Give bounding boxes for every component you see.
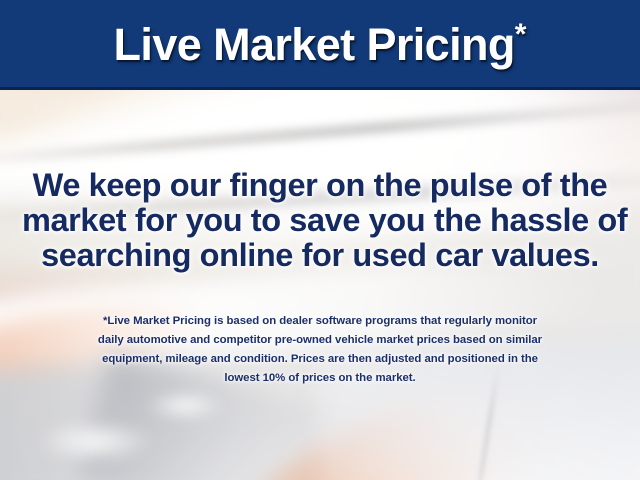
headline-line-1: We keep our finger on the pulse of the — [22, 168, 618, 203]
header-banner: Live Market Pricing* — [0, 0, 640, 90]
headline-text: We keep our finger on the pulse of the m… — [0, 168, 640, 273]
disclaimer-text: *Live Market Pricing is based on dealer … — [0, 312, 640, 388]
page-title-asterisk: * — [515, 18, 527, 51]
disclaimer-line-4: lowest 10% of prices on the market. — [14, 369, 626, 388]
page-title-text: Live Market Pricing — [114, 19, 515, 70]
headline-line-3: searching online for used car values. — [22, 238, 618, 273]
headline-line-2: market for you to save you the hassle of — [22, 203, 618, 238]
live-market-pricing-slide: Live Market Pricing* We keep our finger … — [0, 0, 640, 480]
disclaimer-line-2: daily automotive and competitor pre-owne… — [14, 331, 626, 350]
disclaimer-line-1: *Live Market Pricing is based on dealer … — [14, 312, 626, 331]
page-title: Live Market Pricing* — [114, 20, 527, 67]
content-area: We keep our finger on the pulse of the m… — [0, 90, 640, 480]
disclaimer-line-3: equipment, mileage and condition. Prices… — [14, 350, 626, 369]
